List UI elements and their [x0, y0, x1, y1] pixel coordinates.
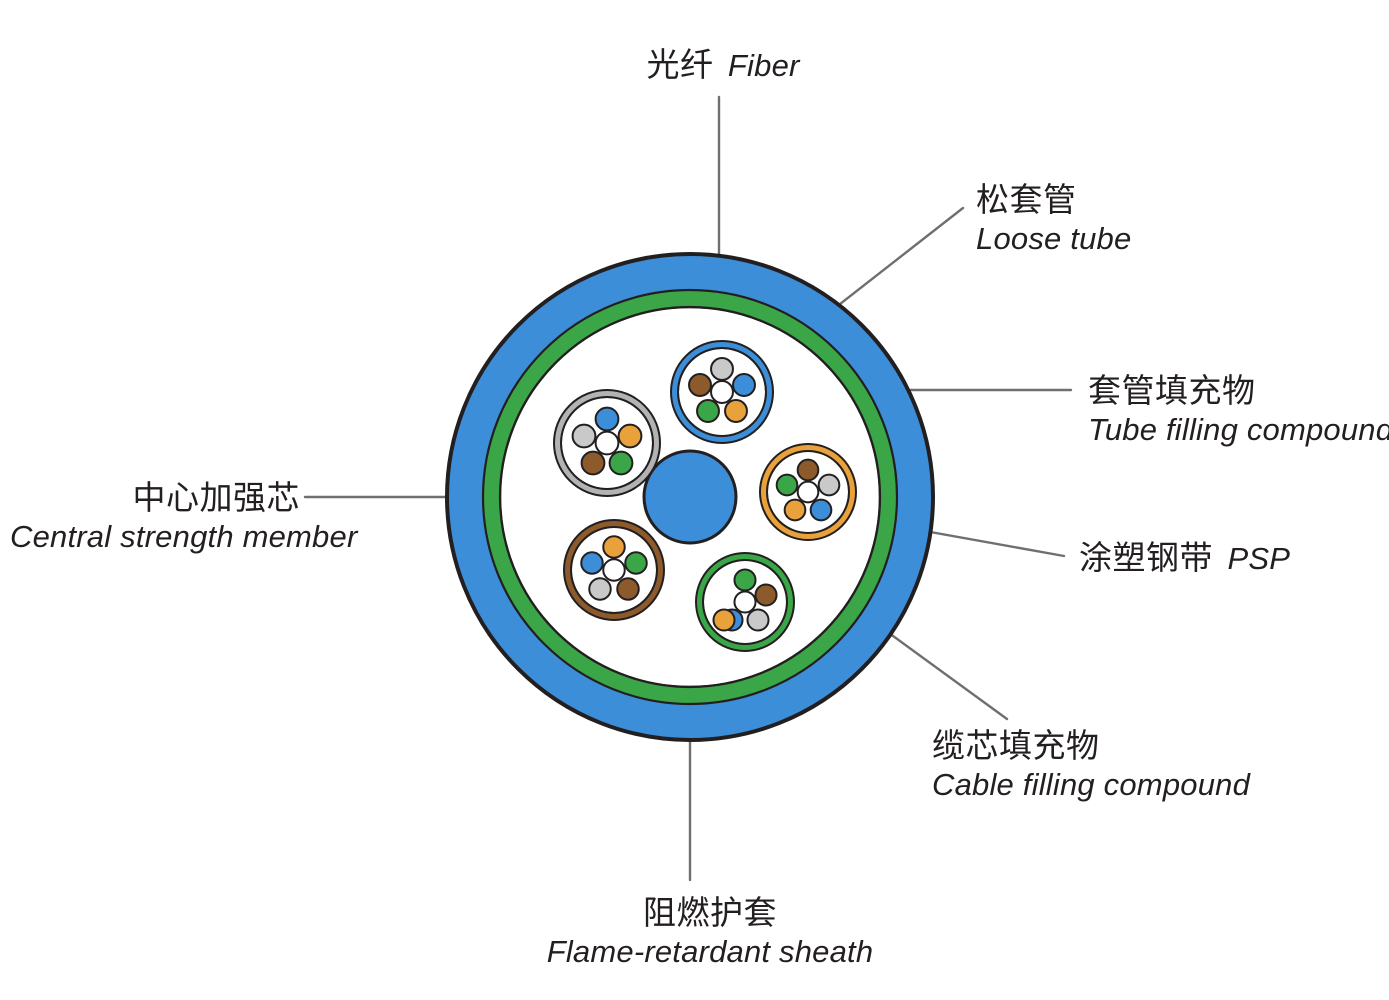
- tube-upper-left-fiber-gray: [573, 425, 596, 448]
- tube-top-fiber-gray: [711, 358, 733, 380]
- tube-lower-left-fiber-blue: [581, 552, 603, 574]
- tube-right-fiber-orange: [785, 500, 806, 521]
- label-loose-tube-cn: 松套管: [976, 180, 1131, 220]
- label-psp-cn: 涂塑钢带: [1079, 539, 1213, 576]
- tube-bottom-fiber-orange: [713, 609, 734, 630]
- diagram-canvas: 光纤 Fiber 松套管 Loose tube 套管填充物 Tube filli…: [0, 0, 1389, 1000]
- tube-bottom-fiber-white: [734, 591, 755, 612]
- tube-upper-left-fiber-brown: [582, 452, 605, 475]
- tube-lower-left-fiber-gray: [589, 578, 611, 600]
- label-psp: 涂塑钢带 PSP: [1079, 538, 1290, 578]
- tube-right: [760, 444, 856, 540]
- tube-top-fiber-blue: [733, 374, 755, 396]
- tube-upper-left-fiber-green: [610, 452, 633, 475]
- label-tube-filling-compound: 套管填充物 Tube filling compound: [1088, 371, 1389, 449]
- label-central-strength-cn: 中心加强芯: [10, 478, 300, 518]
- tube-right-fiber-brown: [798, 460, 819, 481]
- tube-bottom-fiber-brown: [755, 584, 776, 605]
- label-cable-filling-en: Cable filling compound: [932, 766, 1250, 804]
- label-tube-filling-en: Tube filling compound: [1088, 411, 1389, 449]
- central-strength-member: [644, 451, 736, 543]
- tube-right-fiber-gray: [819, 475, 840, 496]
- label-fiber-en: Fiber: [728, 48, 800, 83]
- tube-bottom: [696, 553, 794, 651]
- tube-bottom-fiber-green: [734, 569, 755, 590]
- tube-lower-left-fiber-brown: [617, 578, 639, 600]
- tube-upper-left-fiber-blue: [596, 408, 619, 431]
- label-loose-tube-en: Loose tube: [976, 220, 1131, 258]
- tube-upper-left-fiber-white: [596, 432, 619, 455]
- label-cable-filling-compound: 缆芯填充物 Cable filling compound: [932, 726, 1250, 804]
- tube-right-fiber-white: [798, 482, 819, 503]
- tube-lower-left-fiber-green: [625, 552, 647, 574]
- label-flame-sheath-cn: 阻燃护套: [510, 893, 910, 933]
- label-central-strength-en: Central strength member: [10, 518, 300, 556]
- tube-right-fiber-blue: [811, 500, 832, 521]
- label-tube-filling-cn: 套管填充物: [1088, 371, 1389, 411]
- tube-bottom-fiber-gray: [747, 609, 768, 630]
- tube-upper-left: [554, 390, 660, 496]
- tube-right-fiber-green: [777, 475, 798, 496]
- tube-lower-left-fiber-orange: [603, 536, 625, 558]
- label-fiber: 光纤 Fiber: [598, 45, 848, 85]
- label-cable-filling-cn: 缆芯填充物: [932, 726, 1250, 766]
- label-psp-en: PSP: [1227, 541, 1290, 576]
- tube-top-fiber-brown: [689, 374, 711, 396]
- tube-top-fiber-green: [697, 400, 719, 422]
- tube-lower-left-fiber-white: [603, 559, 625, 581]
- tube-top-fiber-white: [711, 381, 733, 403]
- label-central-strength-member: 中心加强芯 Central strength member: [10, 478, 300, 556]
- label-flame-sheath-en: Flame-retardant sheath: [510, 933, 910, 971]
- tube-lower-left: [564, 520, 664, 620]
- tube-upper-left-fiber-orange: [619, 425, 642, 448]
- label-loose-tube: 松套管 Loose tube: [976, 180, 1131, 258]
- tube-top-fiber-orange: [725, 400, 747, 422]
- tube-top: [671, 341, 773, 443]
- label-flame-retardant-sheath: 阻燃护套 Flame-retardant sheath: [510, 893, 910, 971]
- label-fiber-cn: 光纤: [646, 46, 713, 83]
